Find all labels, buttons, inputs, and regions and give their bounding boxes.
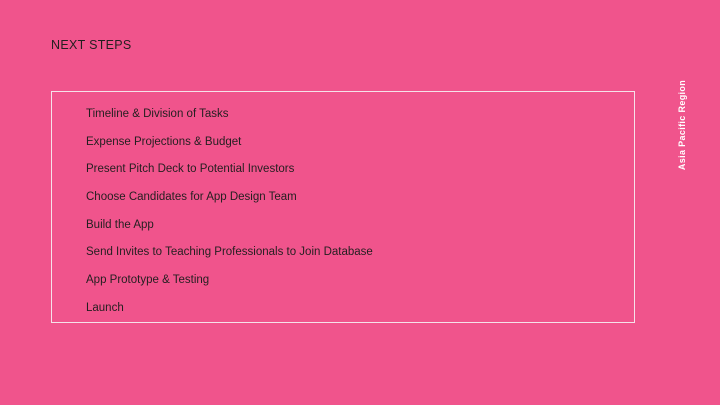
list-item: Choose Candidates for App Design Team	[86, 184, 634, 212]
slide-canvas: NEXT STEPS Timeline & Division of Tasks …	[0, 0, 720, 405]
list-item: App Prototype & Testing	[86, 267, 634, 295]
next-steps-list: Timeline & Division of Tasks Expense Pro…	[86, 101, 634, 323]
side-region-label: Asia Pacific Region	[677, 80, 687, 170]
page-title: NEXT STEPS	[51, 38, 132, 52]
list-item: Send Invites to Teaching Professionals t…	[86, 239, 634, 267]
list-item: Expense Projections & Budget	[86, 129, 634, 157]
list-item: Present Pitch Deck to Potential Investor…	[86, 156, 634, 184]
list-item: Timeline & Division of Tasks	[86, 101, 634, 129]
next-steps-box: Timeline & Division of Tasks Expense Pro…	[51, 91, 635, 323]
list-item: Launch	[86, 295, 634, 323]
list-item: Build the App	[86, 212, 634, 240]
